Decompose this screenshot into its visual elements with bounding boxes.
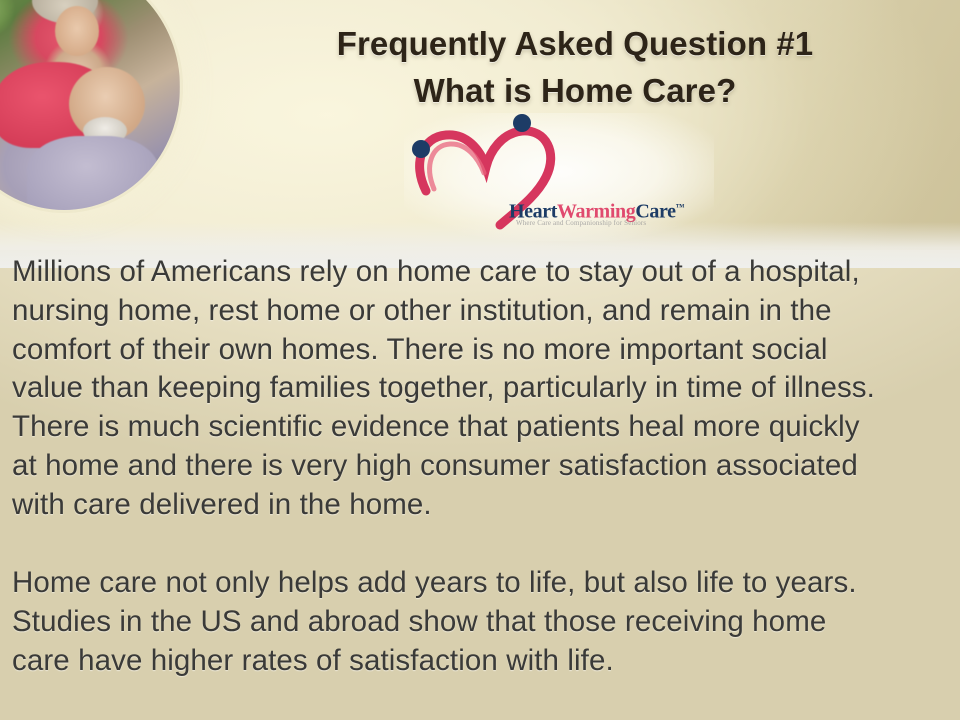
paragraph-line: value than keeping families together, pa…: [12, 369, 950, 408]
paragraph-line: Studies in the US and abroad show that t…: [12, 603, 950, 642]
logo-dot-left: [412, 140, 430, 158]
paragraph-line: comfort of their own homes. There is no …: [12, 331, 950, 370]
logo-dot-right: [513, 114, 531, 132]
paragraph-line: nursing home, rest home or other institu…: [12, 292, 950, 331]
paragraph-line: at home and there is very high consumer …: [12, 447, 950, 486]
paragraph-2: Home care not only helps add years to li…: [12, 564, 950, 680]
brand-logo: HeartWarmingCare™ Where Care and Compani…: [404, 113, 714, 241]
paragraph-line: There is much scientific evidence that p…: [12, 408, 950, 447]
slide-body: Millions of Americans rely on home care …: [0, 250, 960, 720]
paragraph-1: Millions of Americans rely on home care …: [12, 253, 950, 525]
trademark-symbol: ™: [676, 202, 685, 212]
paragraph-line: Home care not only helps add years to li…: [12, 564, 950, 603]
photo-detail-woman-face: [55, 6, 99, 56]
elderly-couple-photo: [0, 0, 180, 210]
faq-slide: Frequently Asked Question #1 What is Hom…: [0, 0, 960, 720]
title-line-2: What is Home Care?: [245, 67, 905, 114]
photo-detail-man-shirt: [27, 136, 159, 210]
photo-image: [0, 0, 180, 210]
paragraph-line: Millions of Americans rely on home care …: [12, 253, 950, 292]
brand-tagline: Where Care and Companionship for Seniors: [516, 219, 646, 227]
paragraph-line: with care delivered in the home.: [12, 486, 950, 525]
brand-wordmark: HeartWarmingCare™: [509, 197, 684, 222]
page-title: Frequently Asked Question #1 What is Hom…: [245, 20, 905, 114]
title-line-1: Frequently Asked Question #1: [337, 25, 814, 62]
paragraph-line: care have higher rates of satisfaction w…: [12, 642, 950, 681]
